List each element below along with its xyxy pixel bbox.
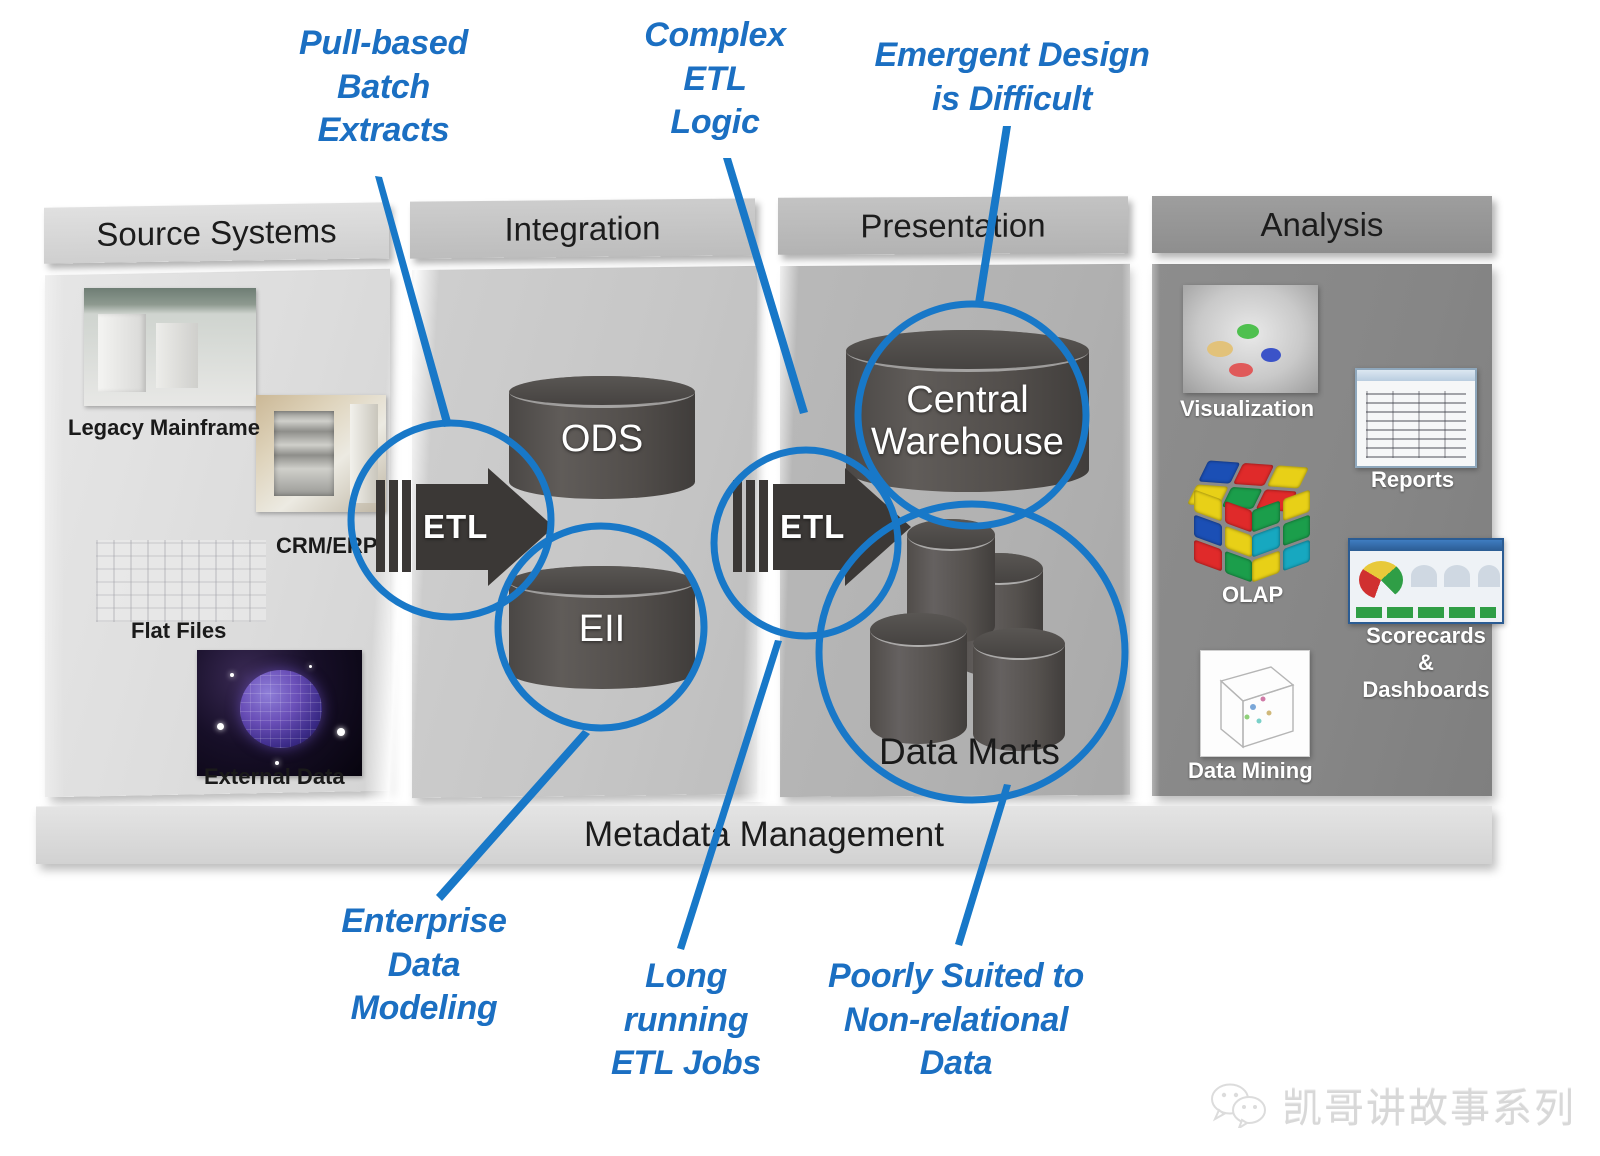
annotation-enterprise-data-modeling: Enterprise Data Modeling [320, 900, 528, 1031]
annotation-complex-etl-logic: Complex ETL Logic [626, 14, 804, 145]
panel-header-analysis: Analysis [1152, 196, 1492, 253]
panel-header-integration: Integration [410, 198, 755, 258]
wechat-icon [1210, 1082, 1270, 1128]
thumbnail-flat-files [96, 540, 266, 622]
source-label-crm-erp: CRM/ERP [276, 533, 377, 559]
etl-arrow-label: ETL [423, 508, 488, 546]
thumbnail-crm-erp [256, 395, 386, 512]
annotation-pull-based-batch-extracts: Pull-based Batch Extracts [276, 22, 491, 153]
etl-arrow-integration: ETL [376, 466, 556, 588]
analysis-label-visualization: Visualization [1180, 396, 1314, 422]
panel-divider-sheen [1122, 256, 1160, 802]
cylinder-label: EII [509, 608, 695, 651]
panel-header-source-systems: Source Systems [44, 202, 389, 263]
external-data-image [197, 650, 362, 776]
watermark-text: 凯哥讲故事系列 [1282, 1076, 1576, 1134]
watermark: 凯哥讲故事系列 [1210, 1076, 1576, 1134]
cylinder-label: ODS [509, 418, 695, 461]
legacy-mainframe-image [84, 288, 256, 406]
panel-header-presentation: Presentation [778, 196, 1128, 255]
annotation-long-running-etl-jobs: Long running ETL Jobs [600, 955, 772, 1086]
annotation-emergent-design: Emergent Design is Difficult [866, 34, 1158, 121]
data-mart-cylinder [870, 613, 967, 744]
source-label-external-data: External Data [204, 764, 345, 790]
cylinder-top [509, 376, 695, 408]
panel-header-label: Presentation [860, 206, 1045, 245]
thumbnail-legacy-mainframe [84, 288, 256, 406]
data-marts-label: Data Marts [879, 731, 1060, 773]
left-edge-sheen [14, 262, 64, 807]
cylinder-label-line1: Central [846, 379, 1089, 422]
cylinder-top [907, 519, 995, 551]
source-label-legacy-mainframe: Legacy Mainframe [68, 415, 260, 441]
thumbnail-data-mining [1200, 650, 1308, 755]
analysis-label-olap: OLAP [1222, 582, 1283, 608]
thumbnail-external-data [197, 650, 362, 776]
analysis-label-reports: Reports [1371, 467, 1454, 493]
metadata-management-label: Metadata Management [584, 815, 944, 855]
analysis-label-data-mining: Data Mining [1188, 758, 1313, 784]
cylinder-top [973, 628, 1065, 660]
crm-erp-image [256, 395, 386, 512]
thumbnail-visualization [1183, 285, 1318, 393]
panel-header-label: Source Systems [96, 212, 336, 254]
thumbnail-scorecards [1348, 538, 1500, 620]
etl-arrow-presentation: ETL [733, 466, 913, 588]
globe-shape [240, 670, 323, 748]
metadata-management-bar: Metadata Management [36, 806, 1492, 864]
analysis-label-scorecards: Scorecards & Dashboards [1356, 623, 1496, 703]
cylinder-top [870, 613, 967, 647]
etl-arrow-label: ETL [780, 508, 845, 546]
scorecards-image [1348, 538, 1504, 624]
panel-header-label: Analysis [1261, 206, 1384, 244]
diagram-canvas: Source Systems Integration Presentation … [0, 0, 1600, 1156]
annotation-poorly-suited: Poorly Suited to Non-relational Data [816, 955, 1096, 1086]
data-mining-image [1200, 650, 1310, 757]
panel-header-label: Integration [505, 209, 661, 248]
cylinder-label-line2: Warehouse [846, 421, 1089, 464]
reports-image [1355, 368, 1477, 468]
flat-files-image [96, 540, 266, 622]
visualization-image [1183, 285, 1318, 393]
thumbnail-olap [1190, 462, 1314, 580]
source-label-flat-files: Flat Files [131, 618, 226, 644]
thumbnail-reports [1355, 368, 1473, 464]
cylinder-top [846, 330, 1089, 372]
